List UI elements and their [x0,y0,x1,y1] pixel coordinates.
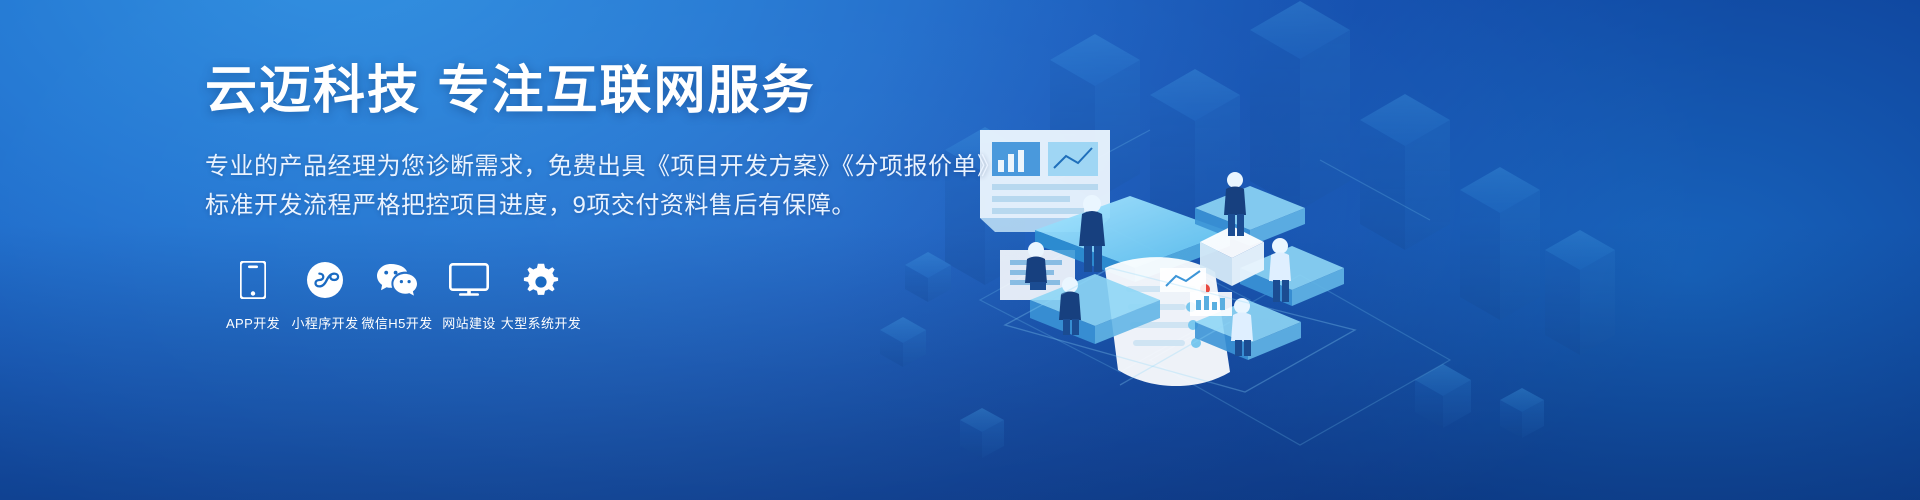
wechat-icon [376,260,418,300]
service-item-website[interactable]: 网站建设 [433,260,505,332]
gear-icon [522,260,560,300]
service-item-mini-program[interactable]: 小程序开发 [289,260,361,332]
service-label-app: APP开发 [226,313,280,332]
monitor-icon [449,260,489,300]
banner-headline: 云迈科技 专注互联网服务 [205,60,965,122]
service-label-wechat-h5: 微信H5开发 [361,313,432,332]
service-label-website: 网站建设 [442,313,496,332]
banner-subtitle-line-2: 标准开发流程严格把控项目进度，9项交付资料售后有保障。 [205,187,965,226]
hero-banner: 云迈科技 专注互联网服务 专业的产品经理为您诊断需求，免费出具《项目开发方案》《… [0,0,1920,500]
mini-program-icon [306,260,344,300]
service-label-mini-program: 小程序开发 [291,313,358,332]
service-item-large-system[interactable]: 大型系统开发 [505,260,577,332]
banner-subtitle-line-1: 专业的产品经理为您诊断需求，免费出具《项目开发方案》《分项报价单》 [205,148,965,187]
banner-content: 云迈科技 专注互联网服务 专业的产品经理为您诊断需求，免费出具《项目开发方案》《… [205,60,965,332]
service-item-app[interactable]: APP开发 [217,260,289,332]
mobile-phone-icon [240,260,266,300]
service-item-wechat-h5[interactable]: 微信H5开发 [361,260,433,332]
service-list: APP开发 小程序开发 [217,260,965,332]
banner-subtitle-block: 专业的产品经理为您诊断需求，免费出具《项目开发方案》《分项报价单》 标准开发流程… [205,148,965,226]
service-label-large-system: 大型系统开发 [501,313,581,332]
